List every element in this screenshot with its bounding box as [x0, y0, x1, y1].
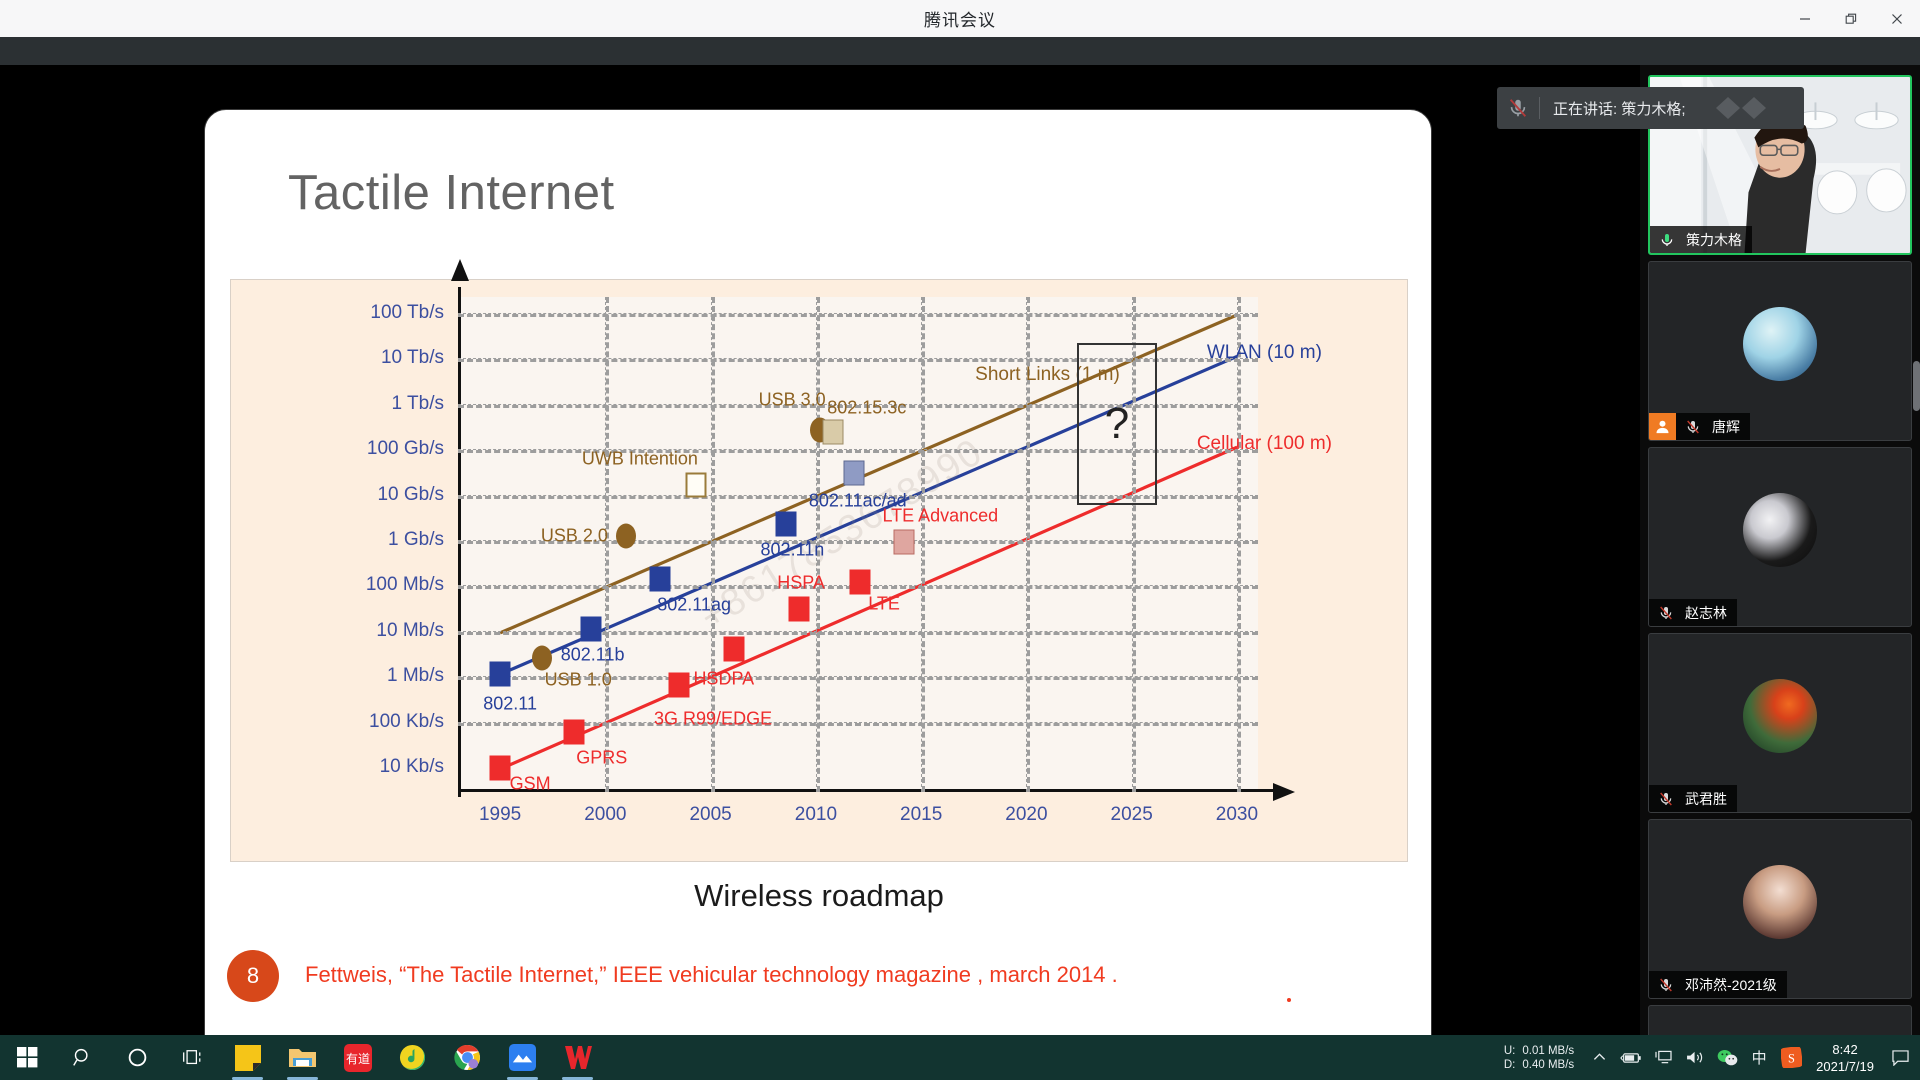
taskbar-item-search[interactable] [55, 1035, 110, 1080]
cortana-icon [127, 1047, 148, 1068]
y-axis-tick-label: 100 Tb/s [370, 302, 444, 324]
x-axis-tick-label: 2020 [1005, 804, 1047, 826]
taskbar-item-tencent-meeting[interactable] [495, 1035, 550, 1080]
participant-name: 赵志林 [1685, 603, 1727, 623]
taskbar-items: 有道 [0, 1035, 605, 1080]
avatar [1743, 865, 1817, 939]
avatar [1743, 679, 1817, 753]
data-point-label: UWB Intention [582, 449, 698, 470]
data-point-marker [776, 511, 797, 536]
data-point-marker [685, 473, 706, 498]
participant-name-bar: 邓沛然-2021级 [1649, 971, 1787, 998]
y-axis-tick-label: 100 Kb/s [369, 711, 444, 733]
y-axis-tick-label: 100 Gb/s [367, 438, 444, 460]
ime-indicator[interactable]: 中 [1744, 1035, 1774, 1080]
meeting-body: 录制中 正在讲话: 策力木格; Tactile Interne [0, 37, 1920, 1012]
participant-name: 武君胜 [1685, 789, 1727, 809]
taskbar-item-chrome[interactable] [440, 1035, 495, 1080]
x-axis-tick-label: 2025 [1111, 804, 1153, 826]
tencent-meeting-icon [509, 1044, 536, 1071]
clock-date: 2021/7/19 [1816, 1058, 1874, 1075]
tencent-meeting-window: 腾讯会议 录制中 [0, 0, 1920, 1080]
data-point-label: GPRS [576, 747, 627, 768]
data-point-label: 802.15.3c [827, 397, 906, 418]
file-explorer-icon [288, 1045, 317, 1071]
slide-number: 8 [227, 950, 279, 1002]
qq-music-icon [399, 1044, 426, 1071]
svg-text:有道: 有道 [345, 1052, 369, 1066]
ime-label: 中 [1752, 1047, 1767, 1068]
data-point-label: 3G R99/EDGE [654, 708, 772, 729]
x-axis-tick-label: 2010 [795, 804, 837, 826]
grid-line-vertical [921, 297, 925, 792]
sogou-input-icon[interactable]: S [1776, 1035, 1806, 1080]
data-point-marker [789, 597, 810, 622]
youdao-icon: 有道 [344, 1044, 372, 1072]
data-point-marker [894, 530, 915, 555]
toast-divider [1539, 97, 1540, 119]
clock-time: 8:42 [1816, 1041, 1874, 1058]
data-point-marker [822, 419, 843, 444]
data-point-marker [580, 616, 601, 641]
participant-name: 唐辉 [1712, 417, 1740, 437]
window-titlebar: 腾讯会议 [0, 0, 1920, 37]
window-controls [1782, 0, 1920, 37]
presentation-slide: Tactile Internet +8617853678990 10 Kb/s1… [204, 109, 1432, 1059]
slide-citation: Fettweis, “The Tactile Internet,” IEEE v… [305, 962, 1118, 988]
network-icon[interactable] [1648, 1035, 1678, 1080]
speaking-toast: 正在讲话: 策力木格; [1497, 87, 1804, 129]
data-point-marker [850, 569, 871, 594]
data-point-label: LTE Advanced [882, 506, 998, 527]
participant-tile[interactable]: 唐辉 [1648, 261, 1912, 441]
search-icon [72, 1047, 93, 1068]
series-legend-label: WLAN (10 m) [1207, 342, 1322, 364]
participant-name-bar: 赵志林 [1649, 599, 1737, 626]
taskbar-item-file-explorer[interactable] [275, 1035, 330, 1080]
y-axis-tick-label: 10 Gb/s [377, 484, 444, 506]
taskbar-item-wps[interactable] [550, 1035, 605, 1080]
grid-line-horizontal [458, 631, 1258, 635]
taskbar-clock[interactable]: 8:42 2021/7/19 [1808, 1041, 1882, 1075]
x-axis-tick-label: 2015 [900, 804, 942, 826]
system-tray: U: D: 0.01 MB/s 0.40 MB/s [1504, 1035, 1920, 1080]
slide-caption: Wireless roadmap [205, 878, 1432, 914]
data-point-marker [532, 646, 552, 671]
rail-scrollbar[interactable] [1913, 361, 1920, 411]
participant-name-bar: 武君胜 [1649, 785, 1737, 812]
sticky-notes-icon [234, 1044, 262, 1072]
data-point-label: USB 2.0 [541, 526, 608, 547]
data-point-marker [669, 672, 690, 697]
taskbar-item-cortana[interactable] [110, 1035, 165, 1080]
data-point-marker [650, 566, 671, 591]
data-point-marker [843, 460, 864, 485]
minimize-button[interactable] [1782, 0, 1828, 37]
chart-plot-area: +8617853678990 10 Kb/s100 Kb/s1 Mb/s10 M… [458, 297, 1258, 792]
close-button[interactable] [1874, 0, 1920, 37]
participant-name: 邓沛然-2021级 [1685, 975, 1777, 995]
x-axis-tick-label: 1995 [479, 804, 521, 826]
toast-decoration-icon [1714, 95, 1794, 121]
wps-icon [564, 1045, 592, 1071]
data-point-label: 802.11n [761, 539, 825, 560]
x-axis-tick-label: 2000 [584, 804, 626, 826]
wireless-roadmap-chart: +8617853678990 10 Kb/s100 Kb/s1 Mb/s10 M… [230, 279, 1408, 862]
y-axis-tick-label: 10 Mb/s [376, 620, 444, 642]
series-legend-label: Cellular (100 m) [1197, 433, 1332, 455]
chrome-icon [454, 1044, 481, 1071]
upload-value: 0.01 MB/s [1522, 1044, 1574, 1058]
taskbar-item-youdao[interactable]: 有道 [330, 1035, 385, 1080]
windows-taskbar: 有道 [0, 1035, 1920, 1080]
data-point-label: HSPA [777, 573, 825, 594]
host-badge-icon [1649, 413, 1676, 440]
slide-title: Tactile Internet [288, 165, 615, 221]
shared-screen-area: Tactile Internet +8617853678990 10 Kb/s1… [0, 65, 1640, 1040]
wechat-icon[interactable] [1712, 1035, 1742, 1080]
mic-muted-icon [1497, 97, 1539, 119]
battery-icon[interactable] [1616, 1035, 1646, 1080]
mic-muted-icon [1653, 791, 1679, 807]
svg-text:S: S [1788, 1051, 1795, 1065]
download-key: D: [1504, 1058, 1516, 1072]
data-point-label: USB 1.0 [545, 670, 612, 691]
data-point-label: 802.11 [483, 694, 537, 715]
participant-tile[interactable]: 赵志林 [1648, 447, 1912, 627]
mic-muted-icon [1680, 419, 1706, 435]
data-point-marker [723, 636, 744, 661]
data-point-label: USB 3.0 [759, 390, 826, 411]
decorative-dot [1287, 998, 1291, 1002]
participant-name: 策力木格 [1686, 230, 1742, 250]
mic-on-icon [1654, 232, 1680, 248]
volume-icon[interactable] [1680, 1035, 1710, 1080]
avatar [1743, 493, 1817, 567]
windows-start-icon [17, 1047, 38, 1068]
participant-tile[interactable]: 武君胜 [1648, 633, 1912, 813]
taskbar-item-task-view[interactable] [165, 1035, 220, 1080]
data-point-marker [563, 719, 584, 744]
data-point-label: LTE [868, 593, 900, 614]
mic-muted-icon [1653, 605, 1679, 621]
participant-rail[interactable]: 策力木格唐辉赵志林武君胜邓沛然-2021级吴天阳2019302096 [1640, 65, 1920, 1040]
show-hidden-icons-button[interactable] [1584, 1035, 1614, 1080]
y-axis-tick-label: 10 Kb/s [380, 756, 444, 778]
data-point-label: HSDPA [693, 668, 754, 689]
restore-button[interactable] [1828, 0, 1874, 37]
window-title: 腾讯会议 [924, 6, 996, 31]
taskbar-item-qq-music[interactable] [385, 1035, 440, 1080]
avatar [1743, 307, 1817, 381]
taskbar-item-sticky-notes[interactable] [220, 1035, 275, 1080]
taskbar-item-start[interactable] [0, 1035, 55, 1080]
x-axis-tick-label: 2030 [1216, 804, 1258, 826]
task-view-icon [182, 1048, 204, 1067]
data-point-marker [490, 756, 511, 781]
download-value: 0.40 MB/s [1522, 1058, 1574, 1072]
grid-line-horizontal [458, 313, 1258, 317]
top-dark-strip [0, 37, 1920, 65]
data-point-marker [616, 524, 636, 549]
participant-name-bar: 策力木格 [1650, 226, 1752, 253]
network-speed-indicator: U: D: 0.01 MB/s 0.40 MB/s [1504, 1044, 1574, 1072]
data-point-label: GSM [510, 774, 551, 795]
upload-key: U: [1504, 1044, 1516, 1058]
data-point-label: 802.11b [561, 644, 625, 665]
mic-muted-icon [1653, 977, 1679, 993]
participant-name-bar: 唐辉 [1649, 413, 1750, 440]
y-axis-tick-label: 100 Mb/s [366, 574, 444, 596]
y-axis-tick-label: 1 Mb/s [387, 665, 444, 687]
grid-line-vertical [1237, 297, 1241, 792]
data-point-marker [490, 662, 511, 687]
y-axis-tick-label: 10 Tb/s [381, 347, 444, 369]
x-axis-tick-label: 2005 [689, 804, 731, 826]
y-axis-tick-label: 1 Gb/s [388, 529, 444, 551]
data-point-label: 802.11ag [657, 594, 731, 615]
notification-center-button[interactable] [1884, 1035, 1916, 1080]
y-axis-tick-label: 1 Tb/s [392, 393, 444, 415]
unknown-region-box: ? [1077, 343, 1157, 505]
speaking-text: 正在讲话: 策力木格; [1553, 98, 1686, 119]
question-mark-label: ? [1105, 399, 1129, 449]
participant-tile[interactable]: 邓沛然-2021级 [1648, 819, 1912, 999]
